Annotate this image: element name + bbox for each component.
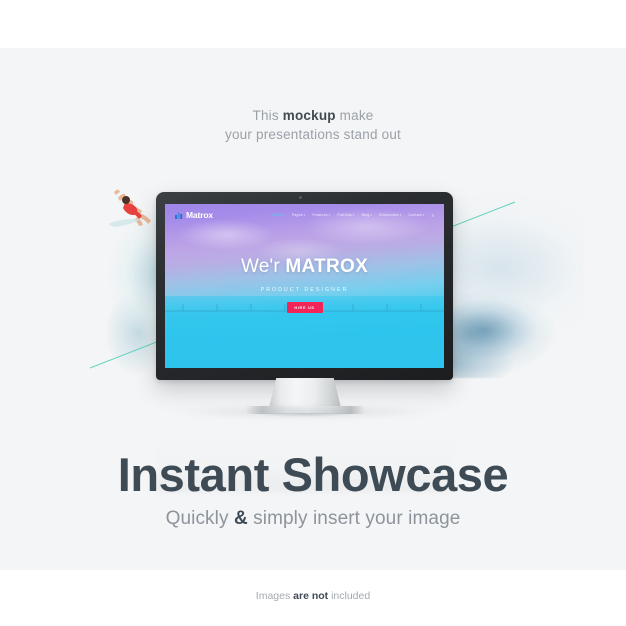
- nav-item-pages[interactable]: Pages▾: [292, 213, 306, 217]
- hero-subtitle: PRODUCT DESIGNER: [165, 287, 444, 293]
- nav-item-blog-label: Blog: [362, 213, 370, 217]
- nav-item-shortcodes-label: Shortcodes: [379, 213, 399, 217]
- monitor-stand-neck: [269, 378, 341, 408]
- chevron-down-icon: ▾: [353, 213, 355, 217]
- nav-item-home-label: Home: [272, 213, 282, 217]
- mockup-canvas: This mockup make your presentations stan…: [0, 0, 626, 626]
- nav-item-contact[interactable]: Contact▾: [408, 213, 424, 217]
- chevron-down-icon: ▾: [329, 213, 331, 217]
- nav-item-blog[interactable]: Blog▾: [362, 213, 372, 217]
- hero-title: We'r MATROX: [165, 256, 444, 278]
- hero-title-light: We'r: [241, 256, 285, 277]
- nav-item-pages-label: Pages: [292, 213, 303, 217]
- surfer-illustration: [96, 186, 158, 246]
- footer-disclaimer: Images are not included: [0, 590, 626, 602]
- website-logo-text: Matrox: [186, 210, 213, 220]
- subhead-pre: Quickly: [166, 508, 234, 529]
- search-icon[interactable]: ⌕: [431, 213, 434, 218]
- website-navbar: Matrox Home▾ Pages▾ Features▾ Portfolio▾…: [165, 204, 444, 226]
- nav-item-features-label: Features: [312, 213, 327, 217]
- footer-pre: Images: [256, 590, 293, 602]
- subhead-post: simply insert your image: [248, 508, 461, 529]
- website-logo[interactable]: Matrox: [175, 210, 213, 220]
- monitor-screen: Matrox Home▾ Pages▾ Features▾ Portfolio▾…: [165, 204, 444, 368]
- chevron-down-icon: ▾: [423, 213, 425, 217]
- nav-item-shortcodes[interactable]: Shortcodes▾: [379, 213, 401, 217]
- nav-item-portfolio[interactable]: Portfolio▾: [337, 213, 354, 217]
- caption-line-1: This mockup make: [0, 106, 626, 125]
- chevron-down-icon: ▾: [400, 213, 402, 217]
- caption-line1-strong: mockup: [283, 108, 336, 123]
- hero-title-bold: MATROX: [285, 256, 368, 277]
- bar-chart-icon: [175, 211, 184, 219]
- nav-item-features[interactable]: Features▾: [312, 213, 330, 217]
- nav-item-home[interactable]: Home▾: [272, 213, 285, 217]
- page-title: Instant Showcase: [0, 448, 626, 502]
- hire-us-button[interactable]: HIRE US: [287, 302, 323, 313]
- caption-line1-pre: This: [253, 108, 283, 123]
- website-nav-items: Home▾ Pages▾ Features▾ Portfolio▾ Blog▾ …: [272, 213, 434, 218]
- nav-item-portfolio-label: Portfolio: [337, 213, 352, 217]
- subhead-strong: &: [234, 508, 248, 529]
- chevron-down-icon: ▾: [283, 213, 285, 217]
- chevron-down-icon: ▾: [304, 213, 306, 217]
- page-subtitle: Quickly & simply insert your image: [0, 508, 626, 530]
- caption-line-2: your presentations stand out: [0, 125, 626, 144]
- caption-line1-post: make: [336, 108, 374, 123]
- nav-item-contact-label: Contact: [408, 213, 421, 217]
- footer-strong: are not: [293, 590, 328, 602]
- monitor-device: Matrox Home▾ Pages▾ Features▾ Portfolio▾…: [156, 192, 453, 380]
- website-hero: We'r MATROX PRODUCT DESIGNER HIRE US: [165, 256, 444, 313]
- top-caption: This mockup make your presentations stan…: [0, 106, 626, 144]
- footer-post: included: [328, 590, 370, 602]
- chevron-down-icon: ▾: [370, 213, 372, 217]
